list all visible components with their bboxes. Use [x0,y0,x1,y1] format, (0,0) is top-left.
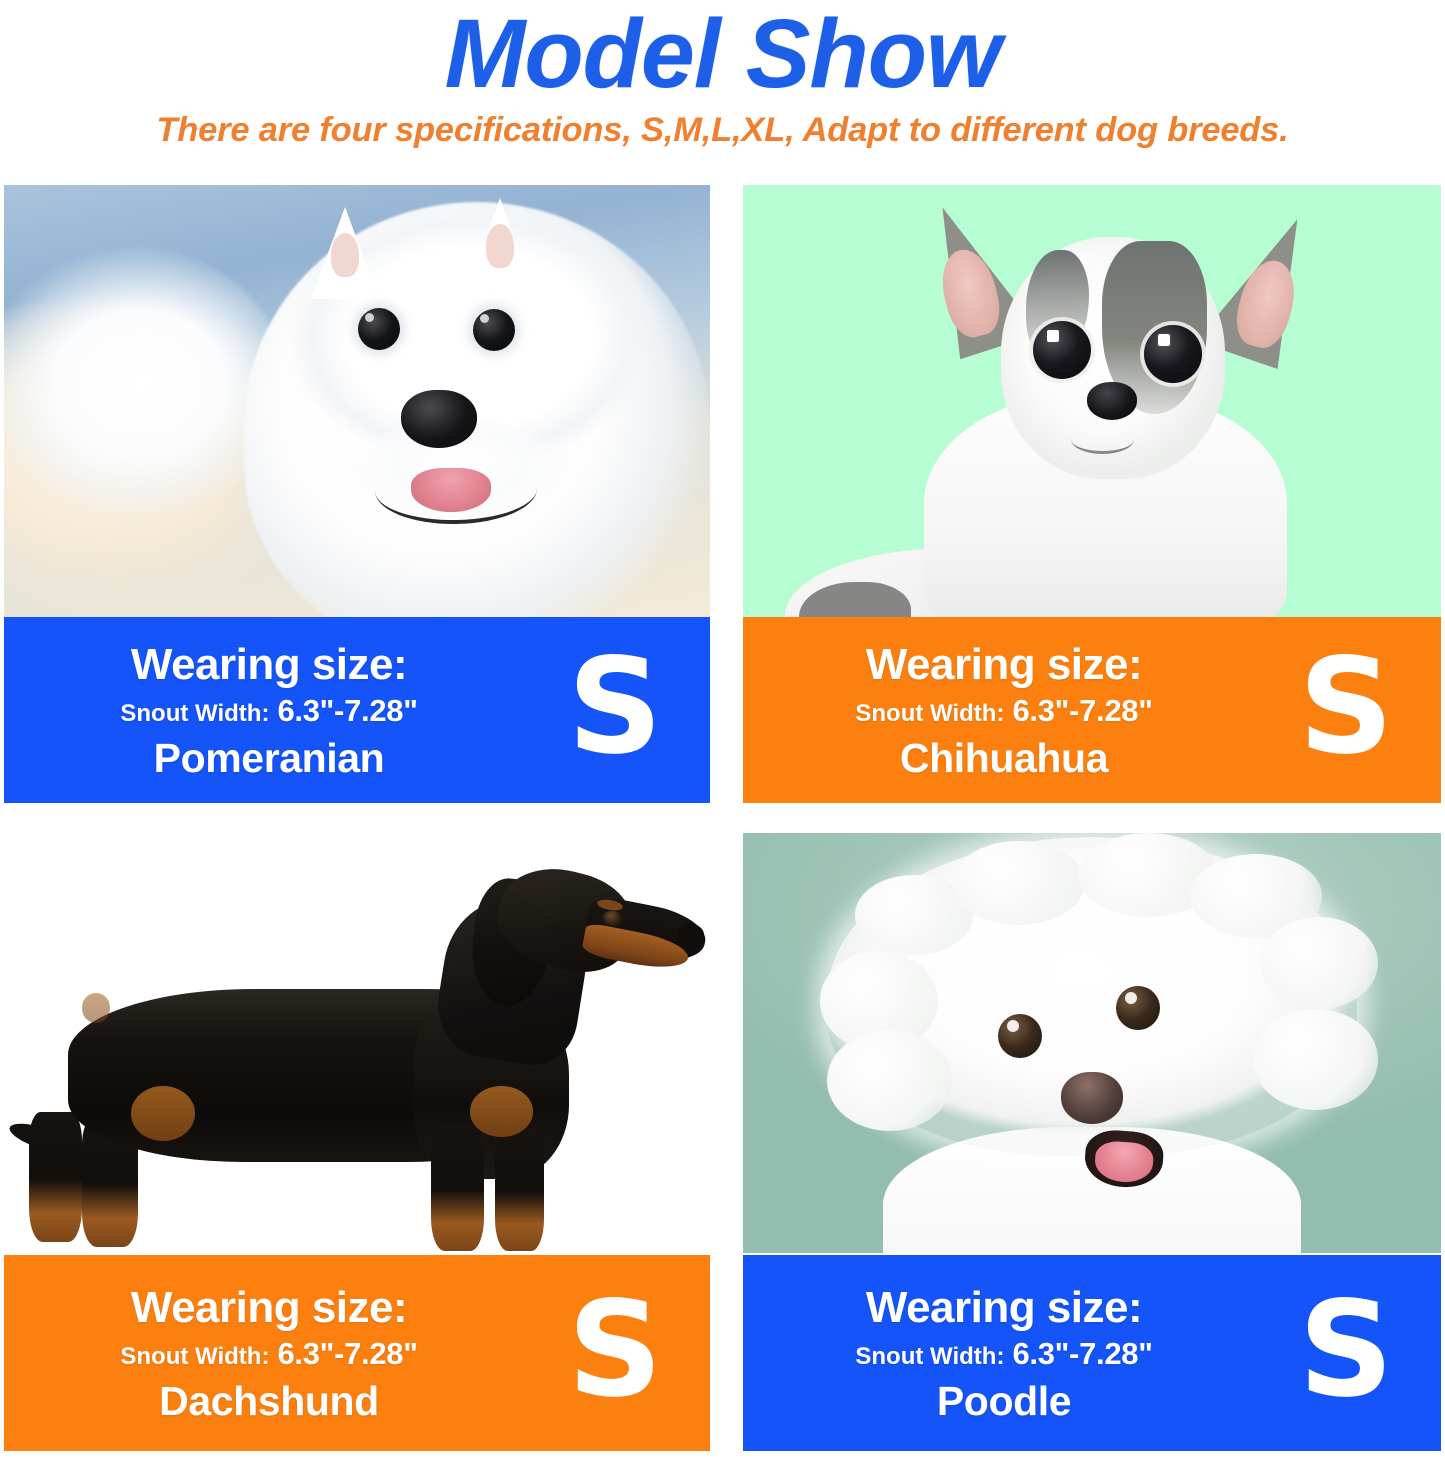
dog-leg-back-right [29,1112,82,1243]
snout-width-value: 6.3"-7.28" [277,1336,417,1371]
dog-tongue [411,468,491,512]
size-label-bar: Wearing size: Snout Width:6.3"-7.28" Pom… [4,617,710,803]
snout-width-row: Snout Width:6.3"-7.28" [22,691,516,734]
wearing-size-label: Wearing size: [761,1282,1247,1334]
wearing-size-label: Wearing size: [761,639,1247,691]
dog-nose [1061,1072,1123,1124]
dog-nose [1087,382,1137,420]
pomeranian-photo [4,185,710,617]
snout-width-row: Snout Width:6.3"-7.28" [761,691,1247,734]
dog-tan-patch-haunch [131,1086,195,1141]
poodle-photo [743,833,1441,1253]
model-show-grid: Wearing size: Snout Width:6.3"-7.28" Pom… [4,185,1441,1451]
page-subtitle: There are four specifications, S,M,L,XL,… [0,110,1445,150]
breed-name: Chihuahua [761,734,1247,782]
size-label-text: Wearing size: Snout Width:6.3"-7.28" Poo… [743,1282,1251,1425]
size-code-badge: S [520,641,710,779]
breed-name: Poodle [761,1377,1247,1425]
snout-width-row: Snout Width:6.3"-7.28" [22,1334,516,1377]
infographic-header: Model Show There are four specifications… [0,0,1445,150]
fur-curl [827,1030,953,1131]
breed-card-pomeranian[interactable]: Wearing size: Snout Width:6.3"-7.28" Pom… [4,185,710,803]
snout-width-label: Snout Width: [855,700,1004,727]
dog-leg-front-left [431,1124,484,1251]
dog-tan-patch-shoulder [470,1086,534,1137]
snout-width-value: 6.3"-7.28" [1012,1336,1152,1371]
breed-card-poodle[interactable]: Wearing size: Snout Width:6.3"-7.28" Poo… [743,833,1441,1451]
fur-curl [1260,917,1379,1009]
breed-name: Pomeranian [22,734,516,782]
fur-curl [1253,1009,1379,1110]
size-label-bar: Wearing size: Snout Width:6.3"-7.28" Dac… [4,1255,710,1451]
size-label-text: Wearing size: Snout Width:6.3"-7.28" Dac… [4,1282,520,1425]
dog-leg-front-right [495,1128,544,1250]
snout-width-label: Snout Width: [855,1343,1004,1370]
dachshund-photo [4,833,710,1255]
breed-name: Dachshund [22,1377,516,1425]
snout-width-label: Snout Width: [120,1343,269,1370]
size-label-text: Wearing size: Snout Width:6.3"-7.28" Chi… [743,639,1251,782]
size-label-text: Wearing size: Snout Width:6.3"-7.28" Pom… [4,639,520,782]
snout-width-row: Snout Width:6.3"-7.28" [761,1334,1247,1377]
size-code-badge: S [520,1284,710,1422]
size-code-badge: S [1251,641,1441,779]
breed-card-dachshund[interactable]: Wearing size: Snout Width:6.3"-7.28" Dac… [4,833,710,1451]
chihuahua-photo [743,185,1441,617]
snout-width-label: Snout Width: [120,700,269,727]
fur-curl [952,841,1085,925]
size-code-badge: S [1251,1284,1441,1422]
breed-card-chihuahua[interactable]: Wearing size: Snout Width:6.3"-7.28" Chi… [743,185,1441,803]
dog-mouth [1071,425,1134,454]
dog-eye-left [1033,321,1091,379]
snout-width-value: 6.3"-7.28" [1012,693,1152,728]
dog-ear-left [311,207,379,299]
dog-ear-right [466,198,534,294]
wearing-size-label: Wearing size: [22,639,516,691]
dog-eye-right [473,309,515,351]
size-label-bar: Wearing size: Snout Width:6.3"-7.28" Poo… [743,1255,1441,1451]
page-title: Model Show [0,2,1445,106]
dog-eye-left [998,1014,1042,1058]
dog-tan-patch-back [82,993,110,1023]
snout-width-value: 6.3"-7.28" [277,693,417,728]
wearing-size-label: Wearing size: [22,1282,516,1334]
size-label-bar: Wearing size: Snout Width:6.3"-7.28" Chi… [743,617,1441,803]
